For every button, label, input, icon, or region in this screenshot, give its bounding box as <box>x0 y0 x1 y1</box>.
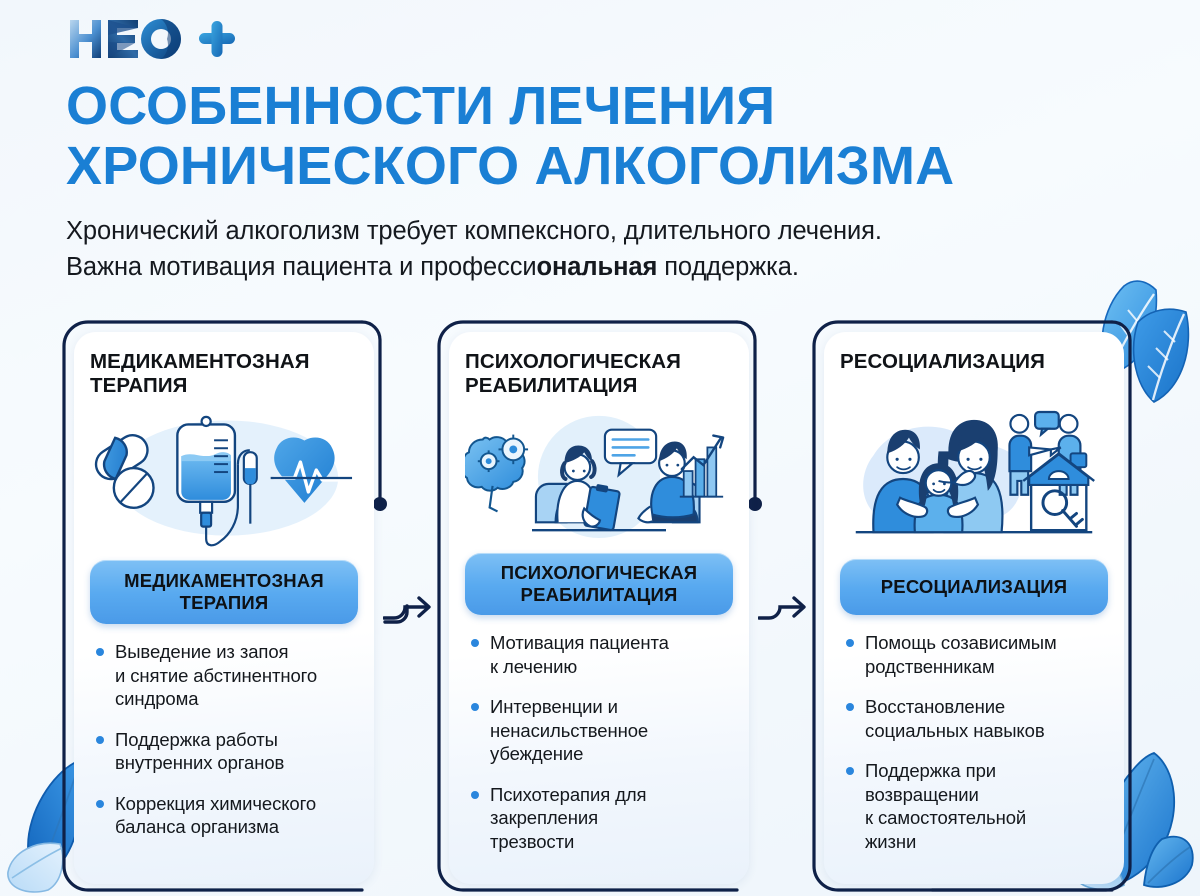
stage-card-psychological[interactable]: ПСИХОЛОГИЧЕСКАЯ РЕАБИЛИТАЦИЯ <box>437 320 747 890</box>
card-heading-line-2: РЕАБИЛИТАЦИЯ <box>465 374 733 398</box>
stage-label-resocialization[interactable]: РЕСОЦИАЛИЗАЦИЯ <box>840 559 1108 615</box>
list-item: Поддержка работы внутренних органов <box>94 728 358 775</box>
stage-label-line-1: МЕДИКАМЕНТОЗНАЯ <box>98 570 350 592</box>
title-line-1: ОСОБЕННОСТИ ЛЕЧЕНИЯ <box>66 76 1136 136</box>
bullet-line: синдрома <box>115 687 358 710</box>
bullet-line: Поддержка работы <box>115 728 358 751</box>
bullet-line: Поддержка при <box>865 759 1108 782</box>
stage-card-medication[interactable]: МЕДИКАМЕНТОЗНАЯ ТЕРАПИЯ <box>62 320 372 890</box>
bullet-list-psychological: Мотивация пациента к лечению Интервенции… <box>465 631 733 870</box>
bullet-line: жизни <box>865 830 1108 853</box>
bullet-line: Выведение из запоя <box>115 640 358 663</box>
card-heading-line-1: ПСИХОЛОГИЧЕСКАЯ <box>465 350 733 374</box>
bullet-line: закрепления <box>490 806 733 829</box>
stage-label-medication[interactable]: МЕДИКАМЕНТОЗНАЯ ТЕРАПИЯ <box>90 560 358 624</box>
list-item: Восстановление социальных навыков <box>844 695 1108 742</box>
card-heading-medication: МЕДИКАМЕНТОЗНАЯ ТЕРАПИЯ <box>90 350 358 400</box>
card-body-resocialization: РЕСОЦИАЛИЗАЦИЯ <box>824 332 1124 884</box>
stage-label-line-1: ПСИХОЛОГИЧЕСКАЯ <box>473 562 725 584</box>
illustration-psychological <box>465 404 733 547</box>
bullet-line: баланса организма <box>115 815 358 838</box>
bullet-line: социальных навыков <box>865 719 1108 742</box>
page-subtitle: Хронический алкоголизм требует компексно… <box>66 213 1126 285</box>
brain-gears-icon <box>465 435 528 512</box>
bullet-line: Помощь созависимым <box>865 631 1108 654</box>
bullet-line: внутренних органов <box>115 751 358 774</box>
bullet-line: Интервенции и <box>490 695 733 718</box>
list-item: Коррекция химического баланса организма <box>94 792 358 839</box>
illustration-resocialization <box>840 404 1108 553</box>
card-heading-line-1: РЕСОЦИАЛИЗАЦИЯ <box>840 350 1108 374</box>
arrow-col2-to-col3-icon <box>758 578 810 626</box>
list-item: Интервенции и ненасильственное убеждение <box>469 695 733 765</box>
bullet-line: убеждение <box>490 742 733 765</box>
bullet-line: к лечению <box>490 655 733 678</box>
card-heading-line-1: МЕДИКАМЕНТОЗНАЯ <box>90 350 358 374</box>
list-item: Поддержка при возвращении к самостоятель… <box>844 759 1108 853</box>
infographic-page: ОСОБЕННОСТИ ЛЕЧЕНИЯ ХРОНИЧЕСКОГО АЛКОГОЛ… <box>0 0 1200 896</box>
bullet-line: трезвости <box>490 830 733 853</box>
subtitle-line-2-bold: ональная <box>537 253 658 281</box>
stage-label-line-2: РЕАБИЛИТАЦИЯ <box>473 584 725 606</box>
connector-dot <box>373 497 387 511</box>
connector-dot <box>748 497 762 511</box>
arrow-col1-to-col2-icon <box>383 578 435 626</box>
list-item: Психотерапия для закрепления трезвости <box>469 783 733 853</box>
bullet-line: ненасильственное <box>490 719 733 742</box>
card-body-medication: МЕДИКАМЕНТОЗНАЯ ТЕРАПИЯ <box>74 332 374 884</box>
list-item: Выведение из запоя и снятие абстинентног… <box>94 640 358 710</box>
stage-label-line-1: РЕСОЦИАЛИЗАЦИЯ <box>848 576 1100 598</box>
list-item: Мотивация пациента к лечению <box>469 631 733 678</box>
bullet-line: к самостоятельной <box>865 806 1108 829</box>
bullet-line: Мотивация пациента <box>490 631 733 654</box>
page-title: ОСОБЕННОСТИ ЛЕЧЕНИЯ ХРОНИЧЕСКОГО АЛКОГОЛ… <box>66 76 1136 197</box>
bullet-list-medication: Выведение из запоя и снятие абстинентног… <box>90 640 358 855</box>
card-body-psychological: ПСИХОЛОГИЧЕСКАЯ РЕАБИЛИТАЦИЯ <box>449 332 749 884</box>
subtitle-line-2-pre: Важна мотивация пациента и професси <box>66 253 537 281</box>
stage-label-line-2: ТЕРАПИЯ <box>98 592 350 614</box>
stage-card-resocialization[interactable]: РЕСОЦИАЛИЗАЦИЯ <box>812 320 1122 890</box>
bullet-line: и снятие абстинентного <box>115 664 358 687</box>
subtitle-line-2-post: поддержка. <box>657 253 799 281</box>
title-line-2: ХРОНИЧЕСКОГО АЛКОГОЛИЗМА <box>66 136 1136 196</box>
bullet-line: Психотерапия для <box>490 783 733 806</box>
stage-label-psychological[interactable]: ПСИХОЛОГИЧЕСКАЯ РЕАБИЛИТАЦИЯ <box>465 553 733 615</box>
bullet-line: Восстановление <box>865 695 1108 718</box>
bullet-list-resocialization: Помощь созависимым родственникам Восстан… <box>840 631 1108 870</box>
treatment-stages: МЕДИКАМЕНТОЗНАЯ ТЕРАПИЯ <box>0 320 1200 896</box>
card-heading-resocialization: РЕСОЦИАЛИЗАЦИЯ <box>840 350 1108 400</box>
card-heading-psychological: ПСИХОЛОГИЧЕСКАЯ РЕАБИЛИТАЦИЯ <box>465 350 733 400</box>
bullet-line: Коррекция химического <box>115 792 358 815</box>
subtitle-line-2: Важна мотивация пациента и профессиональ… <box>66 249 1126 285</box>
growth-chart-icon <box>680 436 723 497</box>
bullet-line: родственникам <box>865 655 1108 678</box>
illustration-medication <box>90 404 358 554</box>
bullet-line: возвращении <box>865 783 1108 806</box>
list-item: Помощь созависимым родственникам <box>844 631 1108 678</box>
brand-logo[interactable] <box>68 16 238 64</box>
card-heading-line-2: ТЕРАПИЯ <box>90 374 358 398</box>
subtitle-line-1: Хронический алкоголизм требует компексно… <box>66 213 1126 249</box>
